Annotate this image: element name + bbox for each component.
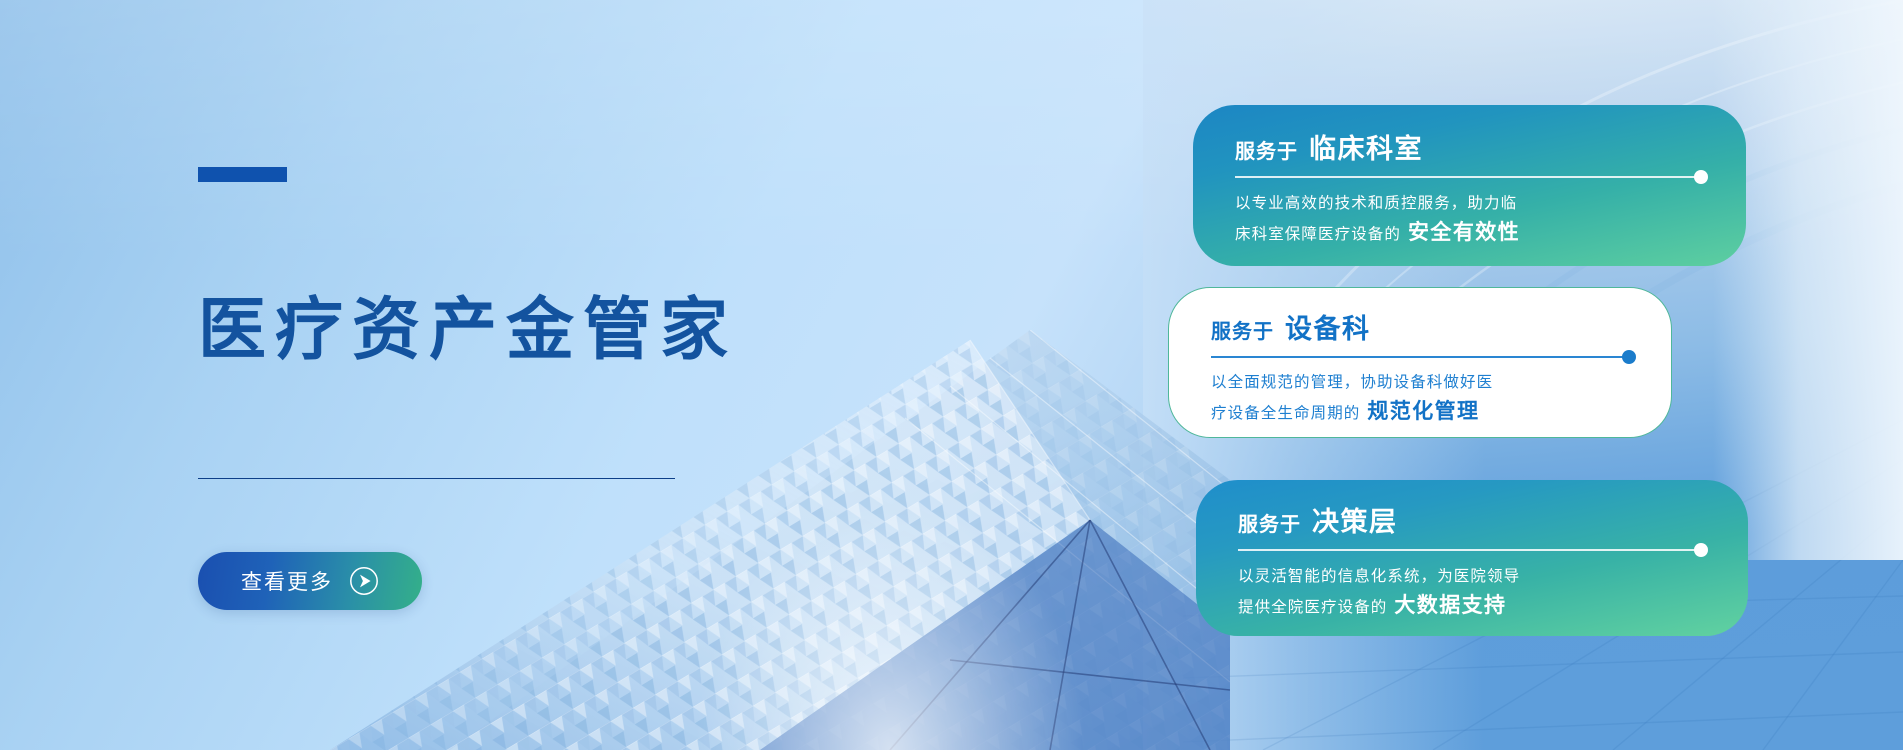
card-decision-rule-line — [1238, 549, 1701, 551]
card-decision-rule-dot — [1694, 543, 1708, 557]
card-decision-desc-lead: 提供全院医疗设备的 — [1238, 599, 1387, 616]
card-clinical-rule-dot — [1694, 170, 1708, 184]
card-clinical-target: 临床科室 — [1309, 127, 1423, 166]
card-decision-heading: 服务于 决策层 — [1238, 500, 1398, 539]
divider — [198, 478, 675, 479]
card-decision-desc-strong: 大数据支持 — [1394, 594, 1506, 617]
card-equipment-desc-line1: 以全面规范的管理，协助设备科做好医 — [1211, 368, 1493, 397]
card-clinical-description: 以专业高效的技术和质控服务，助力临 床科室保障医疗设备的安全有效性 — [1235, 189, 1520, 249]
card-decision-desc-line1: 以灵活智能的信息化系统，为医院领导 — [1238, 562, 1520, 591]
card-equipment-rule — [1211, 350, 1636, 364]
card-equipment-desc-line2: 疗设备全生命周期的规范化管理 — [1211, 397, 1493, 428]
card-decision-description: 以灵活智能的信息化系统，为医院领导 提供全院医疗设备的大数据支持 — [1238, 562, 1520, 622]
view-more-label: 查看更多 — [241, 566, 333, 596]
card-decision-prefix: 服务于 — [1238, 508, 1301, 537]
hero-copy-column: 医疗资产金管家 查看更多 — [198, 0, 838, 750]
view-more-button[interactable]: 查看更多 — [198, 552, 422, 610]
service-card-clinical[interactable]: 服务于 临床科室 以专业高效的技术和质控服务，助力临 床科室保障医疗设备的安全有… — [1193, 105, 1746, 266]
card-equipment-desc-strong: 规范化管理 — [1367, 400, 1479, 423]
card-equipment-prefix: 服务于 — [1211, 315, 1274, 344]
card-decision-rule — [1238, 543, 1708, 557]
card-decision-target: 决策层 — [1312, 500, 1398, 539]
card-clinical-desc-lead: 床科室保障医疗设备的 — [1235, 226, 1401, 243]
card-equipment-rule-line — [1211, 356, 1629, 358]
corridor-wall-panel — [1713, 0, 1903, 560]
accent-dash — [198, 167, 287, 182]
card-clinical-rule-line — [1235, 176, 1701, 178]
page-title: 医疗资产金管家 — [198, 288, 737, 373]
card-equipment-description: 以全面规范的管理，协助设备科做好医 疗设备全生命周期的规范化管理 — [1211, 368, 1493, 428]
service-card-decision[interactable]: 服务于 决策层 以灵活智能的信息化系统，为医院领导 提供全院医疗设备的大数据支持 — [1196, 480, 1748, 636]
card-equipment-heading: 服务于 设备科 — [1211, 307, 1371, 346]
card-clinical-heading: 服务于 临床科室 — [1235, 127, 1423, 166]
card-clinical-desc-strong: 安全有效性 — [1408, 221, 1520, 244]
arrow-right-circle-icon — [349, 566, 379, 596]
card-clinical-desc-line2: 床科室保障医疗设备的安全有效性 — [1235, 218, 1520, 249]
card-clinical-desc-line1: 以专业高效的技术和质控服务，助力临 — [1235, 189, 1520, 218]
hero-banner: 医疗资产金管家 查看更多 服务于 临床科室 以专业高效的技术和质控服务，助力临 — [0, 0, 1903, 750]
card-equipment-rule-dot — [1622, 350, 1636, 364]
card-decision-desc-line2: 提供全院医疗设备的大数据支持 — [1238, 591, 1520, 622]
service-card-equipment[interactable]: 服务于 设备科 以全面规范的管理，协助设备科做好医 疗设备全生命周期的规范化管理 — [1168, 287, 1672, 438]
card-equipment-desc-lead: 疗设备全生命周期的 — [1211, 405, 1360, 422]
card-clinical-prefix: 服务于 — [1235, 135, 1298, 164]
card-equipment-target: 设备科 — [1285, 307, 1371, 346]
card-clinical-rule — [1235, 170, 1708, 184]
